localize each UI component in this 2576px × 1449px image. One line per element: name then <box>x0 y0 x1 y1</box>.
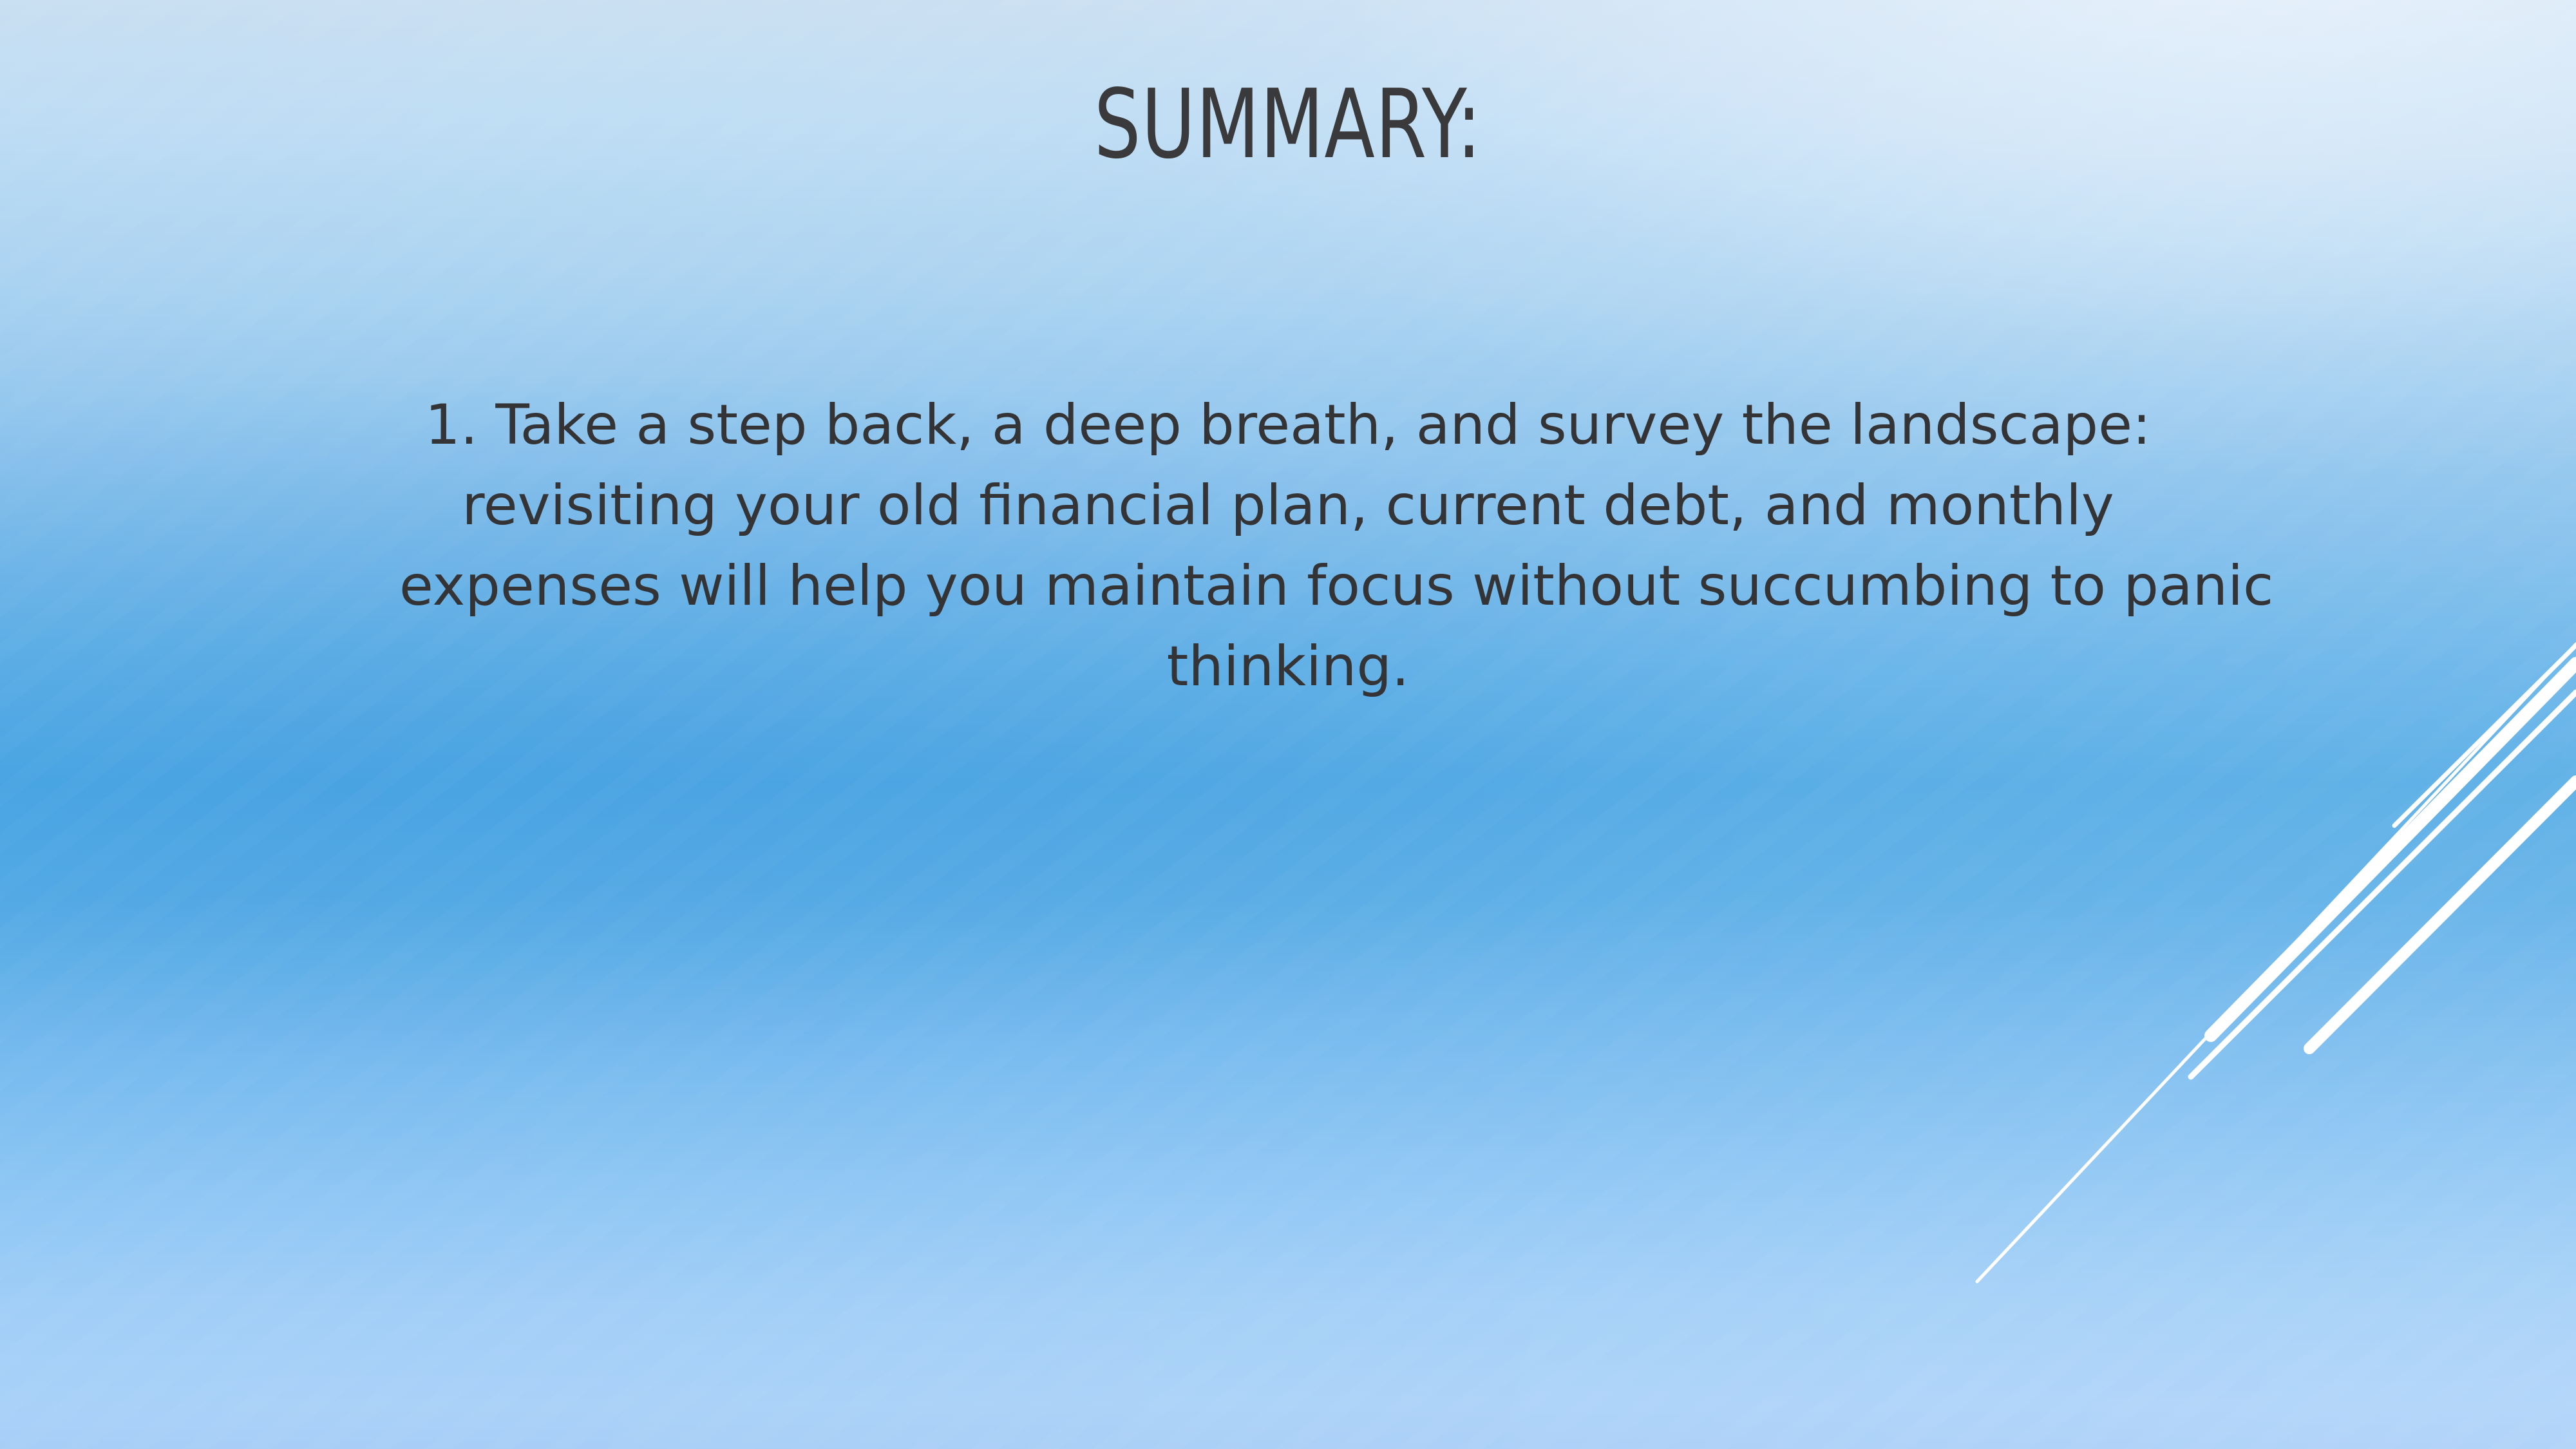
slide-background-texture <box>0 0 2576 1449</box>
page-title: SUMMARY: <box>180 76 2396 173</box>
slide-canvas: SUMMARY: 1. Take a step back, a deep bre… <box>0 0 2576 1449</box>
body-line-1: 1. Take a step back, a deep breath, and … <box>399 385 2177 466</box>
body-line-4: thinking. <box>399 627 2177 707</box>
body-line-3: expenses will help you maintain focus wi… <box>399 546 2177 627</box>
body-line-2: revisiting your old financial plan, curr… <box>399 466 2177 546</box>
slide-body-text: 1. Take a step back, a deep breath, and … <box>399 385 2177 707</box>
